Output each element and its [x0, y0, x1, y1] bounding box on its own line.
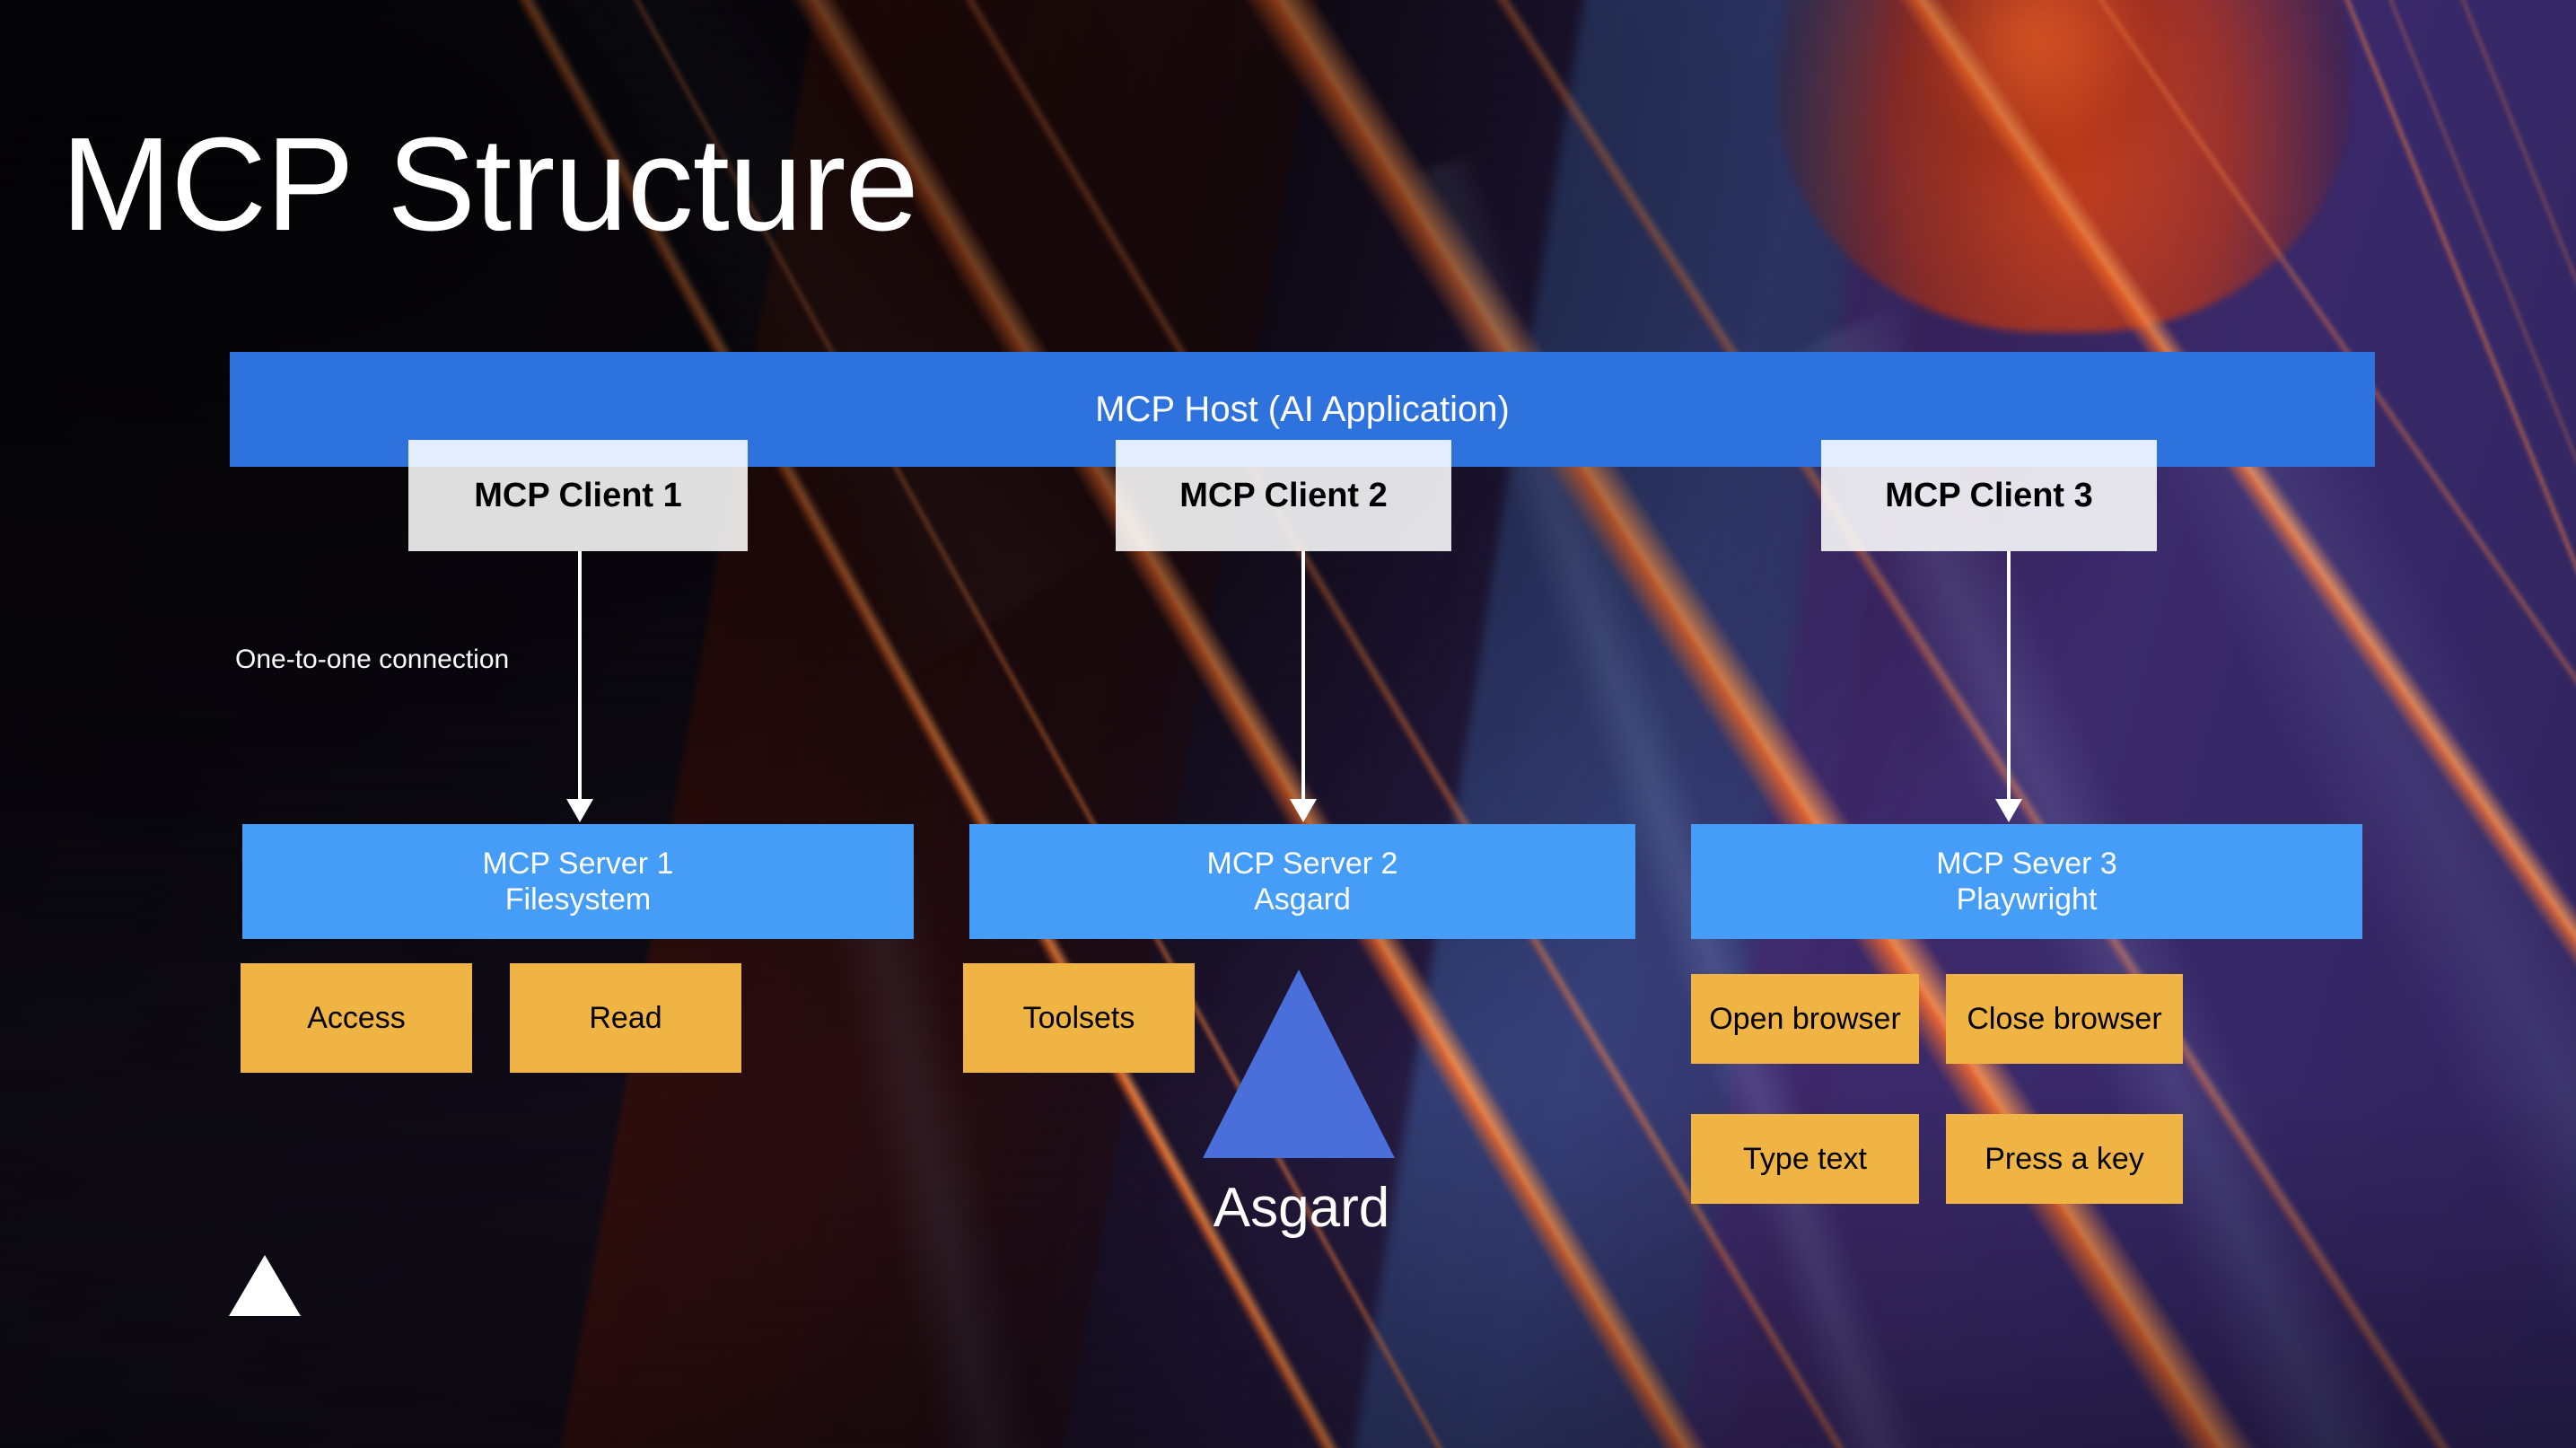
- connection-arrow-client3-server3: [2007, 551, 2011, 801]
- mcp-client-2-box[interactable]: MCP Client 2: [1116, 440, 1451, 551]
- diagram-layer: MCP Structure MCP Host (AI Application) …: [0, 0, 2576, 1448]
- mcp-client-3-label: MCP Client 3: [1885, 477, 2093, 515]
- mcp-host-label: MCP Host (AI Application): [1095, 390, 1510, 430]
- mcp-server-3-box[interactable]: MCP Sever 3 Playwright: [1691, 824, 2362, 939]
- slide-canvas: MCP Structure MCP Host (AI Application) …: [0, 0, 2576, 1448]
- watermark-triangle-icon: [229, 1255, 301, 1316]
- mcp-server-1-box[interactable]: MCP Server 1 Filesystem: [242, 824, 914, 939]
- tool-box-access[interactable]: Access: [241, 963, 472, 1073]
- mcp-client-3-box[interactable]: MCP Client 3: [1821, 440, 2157, 551]
- page-title: MCP Structure: [61, 118, 918, 251]
- one-to-one-connection-label: One-to-one connection: [235, 645, 509, 675]
- tool-box-press-a-key[interactable]: Press a key: [1946, 1114, 2183, 1204]
- tool-label-press-a-key: Press a key: [1985, 1142, 2144, 1176]
- connection-arrow-client1-server1: [578, 551, 582, 801]
- asgard-logo-caption: Asgard: [1194, 1176, 1409, 1240]
- triangle-shape: [1203, 970, 1395, 1158]
- tool-label-close-browser: Close browser: [1967, 1002, 2161, 1036]
- connection-arrow-client2-server2: [1301, 551, 1305, 801]
- tool-label-open-browser: Open browser: [1709, 1002, 1901, 1036]
- tool-box-type-text[interactable]: Type text: [1691, 1114, 1919, 1204]
- asgard-triangle-logo-icon: [1203, 970, 1395, 1158]
- mcp-server-1-name: MCP Server 1: [483, 846, 674, 882]
- mcp-server-3-subtitle: Playwright: [1957, 882, 2098, 917]
- mcp-client-2-label: MCP Client 2: [1179, 477, 1388, 515]
- tool-box-close-browser[interactable]: Close browser: [1946, 974, 2183, 1064]
- mcp-server-2-subtitle: Asgard: [1254, 882, 1351, 917]
- mcp-client-1-box[interactable]: MCP Client 1: [408, 440, 748, 551]
- tool-label-access: Access: [307, 1001, 406, 1035]
- tool-label-toolsets: Toolsets: [1023, 1001, 1135, 1035]
- tool-label-type-text: Type text: [1743, 1142, 1867, 1176]
- mcp-server-2-box[interactable]: MCP Server 2 Asgard: [969, 824, 1635, 939]
- tool-box-read[interactable]: Read: [510, 963, 741, 1073]
- tool-label-read: Read: [589, 1001, 662, 1035]
- mcp-server-3-name: MCP Sever 3: [1936, 846, 2117, 882]
- mcp-client-1-label: MCP Client 1: [474, 477, 682, 515]
- tool-box-toolsets[interactable]: Toolsets: [963, 963, 1195, 1073]
- tool-box-open-browser[interactable]: Open browser: [1691, 974, 1919, 1064]
- mcp-server-2-name: MCP Server 2: [1207, 846, 1398, 882]
- mcp-server-1-subtitle: Filesystem: [505, 882, 651, 917]
